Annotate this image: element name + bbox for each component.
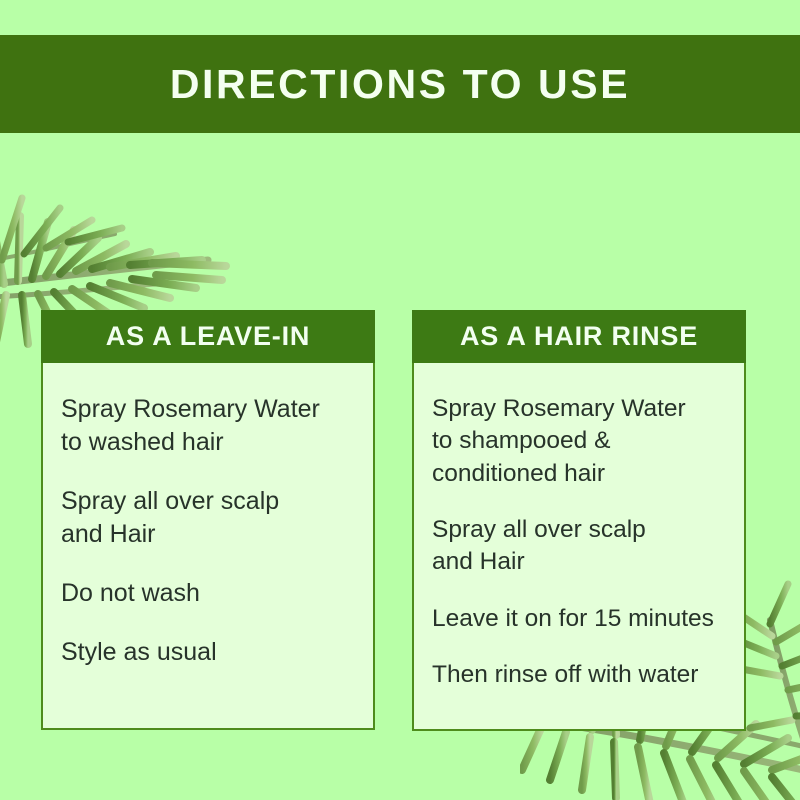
list-item: Spray all over scalp and Hair	[61, 485, 357, 551]
card-hair-rinse-title: AS A HAIR RINSE	[460, 323, 698, 350]
card-hair-rinse-body: Spray Rosemary Water to shampooed & cond…	[412, 363, 746, 731]
card-leave-in: AS A LEAVE-IN Spray Rosemary Water to wa…	[41, 310, 375, 730]
card-hair-rinse-header: AS A HAIR RINSE	[412, 310, 746, 363]
card-leave-in-header: AS A LEAVE-IN	[41, 310, 375, 363]
list-item: Spray Rosemary Water to washed hair	[61, 393, 357, 459]
title-banner: DIRECTIONS TO USE	[0, 35, 800, 133]
card-hair-rinse: AS A HAIR RINSE Spray Rosemary Water to …	[412, 310, 746, 730]
list-item: Leave it on for 15 minutes	[432, 603, 728, 635]
list-item: Spray all over scalp and Hair	[432, 514, 728, 579]
list-item: Do not wash	[61, 577, 357, 610]
directions-to-use-poster: DIRECTIONS TO USE AS A LEAVE-IN Spray Ro…	[0, 0, 800, 800]
step-list: Spray Rosemary Water to shampooed & cond…	[432, 393, 728, 691]
list-item: Then rinse off with water	[432, 659, 728, 691]
card-leave-in-body: Spray Rosemary Water to washed hair Spra…	[41, 363, 375, 730]
card-leave-in-title: AS A LEAVE-IN	[106, 323, 310, 350]
list-item: Style as usual	[61, 636, 357, 669]
list-item: Spray Rosemary Water to shampooed & cond…	[432, 393, 728, 490]
step-list: Spray Rosemary Water to washed hair Spra…	[61, 393, 357, 669]
page-title: DIRECTIONS TO USE	[170, 64, 630, 105]
